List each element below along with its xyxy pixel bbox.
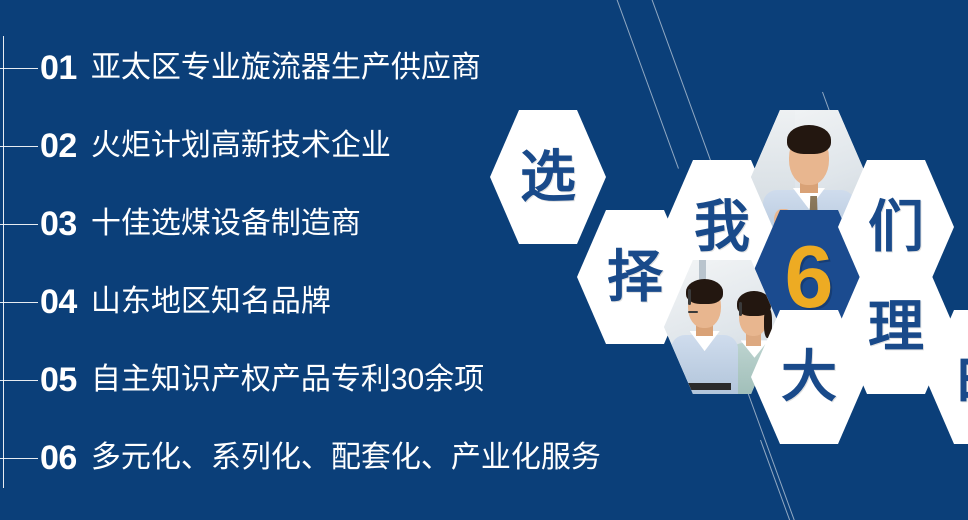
headset-icon bbox=[739, 302, 742, 316]
list-tick bbox=[0, 68, 38, 69]
list-tick bbox=[0, 146, 38, 147]
list-item: 01 亚太区专业旋流器生产供应商 bbox=[0, 38, 620, 98]
figure-belt bbox=[678, 383, 731, 390]
list-item-text: 自主知识产权产品专利30余项 bbox=[91, 365, 484, 395]
headset-mic-icon bbox=[688, 311, 698, 313]
list-tick bbox=[0, 302, 38, 303]
list-item-number: 01 bbox=[40, 51, 77, 85]
list-item: 06 多元化、系列化、配套化、产业化服务 bbox=[0, 428, 620, 488]
list-item-number: 02 bbox=[40, 129, 77, 163]
hex-glyph: 由 bbox=[955, 349, 968, 405]
list-item-text: 亚太区专业旋流器生产供应商 bbox=[91, 53, 481, 83]
list-item-text: 火炬计划高新技术企业 bbox=[91, 131, 391, 161]
diagonal-line-5 bbox=[760, 440, 799, 520]
list-tick bbox=[0, 458, 38, 459]
hexagon-honeycomb: 选 择 我 bbox=[480, 100, 968, 420]
list-item-text: 山东地区知名品牌 bbox=[91, 287, 331, 317]
hex-glyph: 我 bbox=[694, 199, 750, 255]
list-item-number: 04 bbox=[40, 285, 77, 319]
list-item-number: 05 bbox=[40, 363, 77, 397]
figure-hair-man bbox=[686, 279, 723, 304]
hex-glyph: 大 bbox=[781, 349, 837, 405]
hex-glyph: 选 bbox=[520, 149, 576, 205]
headset-icon bbox=[688, 289, 691, 305]
list-item-text: 十佳选煤设备制造商 bbox=[91, 209, 361, 239]
list-item-number: 03 bbox=[40, 207, 77, 241]
hex-glyph: 择 bbox=[607, 249, 663, 305]
hex-glyph: 理 bbox=[868, 299, 924, 355]
hex-glyph: 们 bbox=[868, 199, 924, 255]
hex-glyph-number: 6 bbox=[785, 233, 834, 321]
list-item-text: 多元化、系列化、配套化、产业化服务 bbox=[91, 443, 601, 473]
promo-banner: 01 亚太区专业旋流器生产供应商 02 火炬计划高新技术企业 03 十佳选煤设备… bbox=[0, 0, 968, 520]
list-tick bbox=[0, 380, 38, 381]
list-item-number: 06 bbox=[40, 441, 77, 475]
hex-cell-xuan: 选 bbox=[490, 110, 606, 244]
figure-hair bbox=[787, 125, 831, 154]
list-tick bbox=[0, 224, 38, 225]
